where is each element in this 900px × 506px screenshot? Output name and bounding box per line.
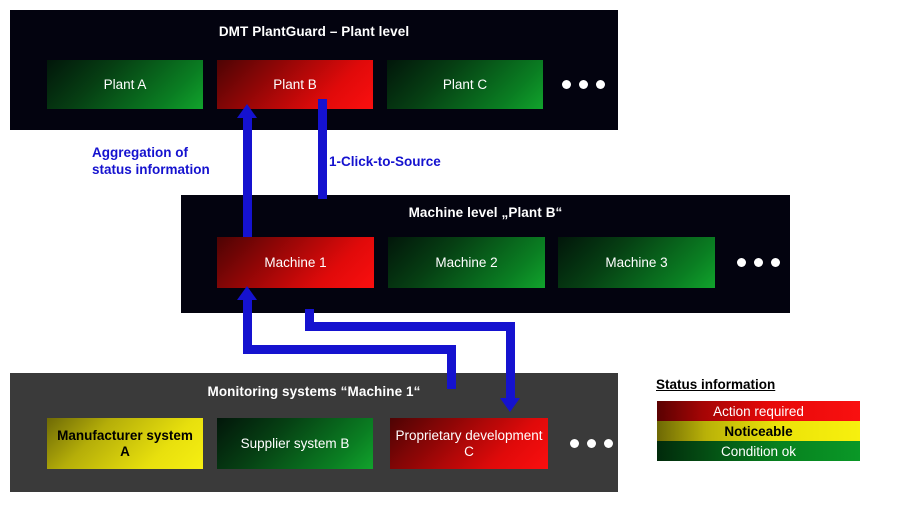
click-to-source-connector-lower-vertical-right <box>506 322 515 401</box>
status-legend-row-condition-ok-label: Condition ok <box>721 444 796 459</box>
monitoring-systems-title: Monitoring systems “Machine 1“ <box>10 384 618 399</box>
click-to-source-label: 1-Click-to-Source <box>329 153 519 170</box>
plant-box-plant-c[interactable]: Plant C <box>387 60 543 109</box>
click-to-source-connector-arrowhead <box>500 398 520 412</box>
status-legend-row-action-required: Action required <box>657 401 860 421</box>
aggregation-connector-lower-arrowhead <box>237 286 257 300</box>
machine-box-machine-3[interactable]: Machine 3 <box>558 237 715 288</box>
plant-box-plant-a[interactable]: Plant A <box>47 60 203 109</box>
monitoring-box-proprietary-development-c-label: Proprietary development C <box>394 428 544 460</box>
machine-box-machine-2[interactable]: Machine 2 <box>388 237 545 288</box>
monitoring-systems-panel: Monitoring systems “Machine 1“ Manufactu… <box>10 373 618 492</box>
machine-level-title: Machine level „Plant B“ <box>181 205 790 220</box>
status-legend-title: Status information <box>656 377 775 392</box>
monitoring-box-manufacturer-system-a[interactable]: Manufacturer system A <box>47 418 203 469</box>
status-legend-row-noticeable-label: Noticeable <box>724 424 792 439</box>
plant-level-panel: DMT PlantGuard – Plant level Plant A Pla… <box>10 10 618 130</box>
aggregation-connector-upper-stem <box>243 117 252 237</box>
machine-box-machine-3-label: Machine 3 <box>605 255 667 271</box>
plant-box-plant-c-label: Plant C <box>443 77 487 93</box>
plant-box-plant-b[interactable]: Plant B <box>217 60 373 109</box>
machine-box-machine-2-label: Machine 2 <box>435 255 497 271</box>
status-legend-row-noticeable: Noticeable <box>657 421 860 441</box>
plant-level-more-indicator-icon <box>562 80 605 89</box>
plant-level-title: DMT PlantGuard – Plant level <box>10 24 618 39</box>
status-legend: Status information Action required Notic… <box>655 375 865 470</box>
monitoring-systems-more-indicator-icon <box>570 439 613 448</box>
aggregation-connector-lower-vertical-left <box>243 299 252 349</box>
plant-box-plant-b-label: Plant B <box>273 77 317 93</box>
machine-level-panel: Machine level „Plant B“ Machine 1 Machin… <box>181 195 790 313</box>
aggregation-label: Aggregation of status information <box>92 144 242 178</box>
machine-box-machine-1-label: Machine 1 <box>264 255 326 271</box>
machine-level-more-indicator-icon <box>737 258 780 267</box>
click-to-source-connector-lower-horizontal <box>305 322 515 331</box>
machine-box-machine-1[interactable]: Machine 1 <box>217 237 374 288</box>
monitoring-box-supplier-system-b-label: Supplier system B <box>241 436 350 452</box>
monitoring-box-proprietary-development-c[interactable]: Proprietary development C <box>390 418 548 469</box>
monitoring-box-manufacturer-system-a-label: Manufacturer system A <box>51 428 199 460</box>
plant-box-plant-a-label: Plant A <box>104 77 147 93</box>
click-to-source-connector-upper-stem <box>318 99 327 199</box>
monitoring-box-supplier-system-b[interactable]: Supplier system B <box>217 418 373 469</box>
status-legend-row-condition-ok: Condition ok <box>657 441 860 461</box>
aggregation-connector-upper-arrowhead <box>237 104 257 118</box>
diagram-canvas: DMT PlantGuard – Plant level Plant A Pla… <box>0 0 900 506</box>
status-legend-row-action-required-label: Action required <box>713 404 804 419</box>
aggregation-connector-lower-horizontal <box>243 345 456 354</box>
